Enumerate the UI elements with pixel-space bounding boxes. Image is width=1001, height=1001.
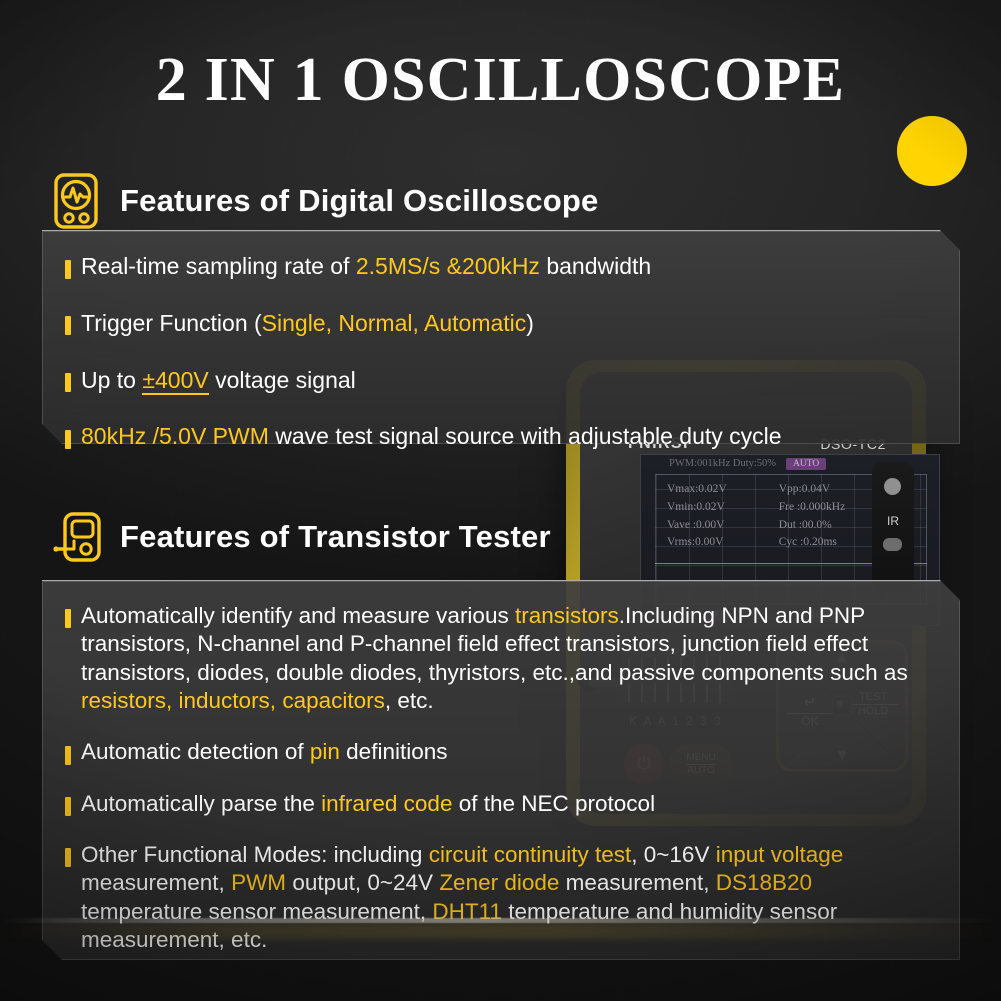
- feature-highlight: 80kHz /5.0V PWM: [81, 423, 269, 449]
- screen-trigger-badge: AUTO: [786, 458, 826, 470]
- transistor-tester-icon: [52, 508, 104, 566]
- measure-vpp: Vpp:0.04V: [779, 481, 845, 499]
- feature-text: Real-time sampling rate of: [81, 253, 356, 279]
- feature-text: Automatically identify and measure vario…: [81, 603, 515, 628]
- feature-bullet: Automatic detection of pin definitions: [62, 738, 937, 766]
- product-feature-poster: 2 IN 1 OSCILLOSCOPE FNIRSi DSO-TC2 PWM:0…: [0, 0, 1001, 1001]
- feature-text: measurement,: [559, 870, 715, 895]
- feature-text: definitions: [340, 739, 448, 764]
- title-accent-circle: [897, 116, 967, 186]
- feature-bullet: 80kHz /5.0V PWM wave test signal source …: [62, 422, 862, 451]
- measure-cycle: Cyc :0.20ms: [779, 534, 845, 552]
- ir-receiver-icon: [883, 538, 902, 551]
- feature-text: bandwidth: [540, 253, 651, 279]
- measurements-left-column: Vmax:0.02V Vmin:0.02V Vave :0.00V Vrms:0…: [667, 481, 727, 552]
- feature-list-oscilloscope: Real-time sampling rate of 2.5MS/s &200k…: [62, 252, 862, 451]
- feature-text: Automatically parse the: [81, 791, 321, 816]
- ir-module: IR: [872, 462, 914, 592]
- page-title: 2 IN 1 OSCILLOSCOPE: [0, 38, 1001, 122]
- feature-highlight: transistors: [515, 603, 619, 628]
- feature-text: output, 0~24V: [286, 870, 439, 895]
- feature-highlight: resistors, inductors, capacitors: [81, 688, 385, 713]
- measure-vrms: Vrms:0.00V: [667, 534, 727, 552]
- feature-text: Up to: [81, 367, 142, 393]
- feature-highlight: DHT11: [432, 899, 502, 924]
- feature-text: Trigger Function (: [81, 310, 262, 336]
- feature-bullet: Real-time sampling rate of 2.5MS/s &200k…: [62, 252, 862, 281]
- feature-highlight: infrared code: [321, 791, 452, 816]
- feature-highlight: 2.5MS/s &200kHz: [356, 253, 540, 279]
- feature-text: Other Functional Modes: including: [81, 842, 429, 867]
- feature-highlight: Single, Normal, Automatic: [262, 310, 527, 336]
- feature-bullet: Up to ±400V voltage signal: [62, 366, 862, 395]
- feature-text: , 0~16V: [631, 842, 715, 867]
- ir-led-icon: [884, 478, 901, 495]
- screen-pwm-status: PWM:001kHz Duty:50%: [669, 458, 776, 469]
- section-header-transistor: Features of Transistor Tester: [52, 508, 551, 566]
- feature-highlight: input voltage: [716, 842, 844, 867]
- feature-text: ): [526, 310, 534, 336]
- feature-text: Automatic detection of: [81, 739, 310, 764]
- poster-title-area: 2 IN 1 OSCILLOSCOPE: [0, 38, 1001, 122]
- feature-text: temperature sensor measurement,: [81, 899, 432, 924]
- feature-highlight: pin: [310, 739, 340, 764]
- feature-bullet: Other Functional Modes: including circui…: [62, 841, 937, 954]
- measure-frequency: Fre :0.000kHz: [779, 499, 845, 517]
- measure-vave: Vave :0.00V: [667, 517, 727, 535]
- feature-highlight: PWM: [231, 870, 286, 895]
- measure-duty: Dut :00.0%: [779, 517, 845, 535]
- ir-label: IR: [872, 514, 914, 528]
- feature-bullet: Trigger Function (Single, Normal, Automa…: [62, 309, 862, 338]
- oscilloscope-meter-icon: [52, 172, 104, 230]
- feature-text: of the NEC protocol: [452, 791, 655, 816]
- feature-list-transistor: Automatically identify and measure vario…: [62, 602, 937, 954]
- measure-vmax: Vmax:0.02V: [667, 481, 727, 499]
- section-title-oscilloscope: Features of Digital Oscilloscope: [120, 183, 598, 219]
- feature-text: measurement,: [81, 870, 231, 895]
- feature-bullet: Automatically parse the infrared code of…: [62, 790, 937, 818]
- feature-text: , etc.: [385, 688, 434, 713]
- section-header-oscilloscope: Features of Digital Oscilloscope: [52, 172, 598, 230]
- feature-highlight: circuit continuity test: [429, 842, 632, 867]
- feature-highlight: ±400V: [142, 367, 208, 395]
- measurements-right-column: Vpp:0.04V Fre :0.000kHz Dut :00.0% Cyc :…: [779, 481, 845, 552]
- section-title-transistor: Features of Transistor Tester: [120, 519, 551, 555]
- feature-text: wave test signal source with adjustable …: [269, 423, 782, 449]
- feature-bullet: Automatically identify and measure vario…: [62, 602, 937, 715]
- feature-text: voltage signal: [209, 367, 356, 393]
- feature-highlight: DS18B20: [716, 870, 812, 895]
- feature-highlight: Zener diode: [439, 870, 559, 895]
- measure-vmin: Vmin:0.02V: [667, 499, 727, 517]
